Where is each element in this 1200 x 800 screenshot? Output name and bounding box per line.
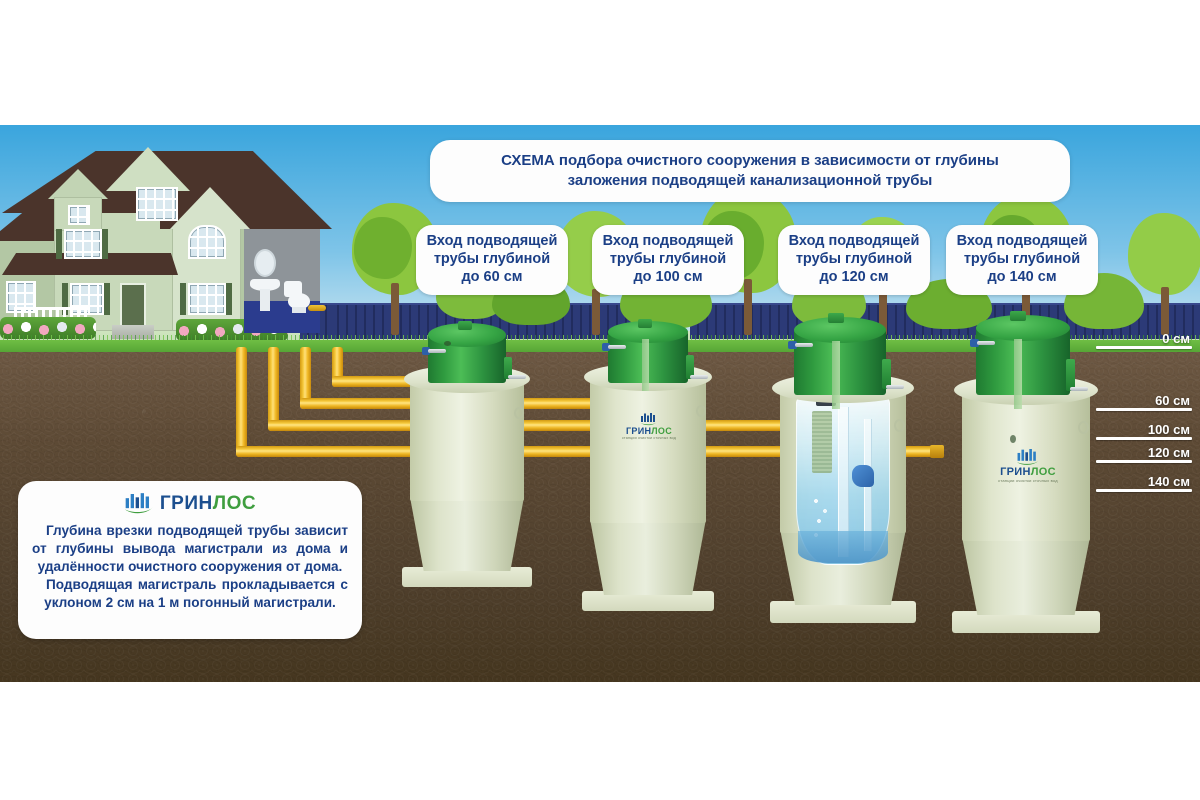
tank-3-fin — [832, 341, 840, 409]
pipe-horizontal-2 — [268, 420, 834, 431]
tank-4-brand-prefix: ГРИН — [1000, 466, 1031, 478]
shutter-lower-right-a — [180, 283, 186, 315]
tank-1-hatch — [458, 321, 472, 330]
depth-rule-120 — [1096, 460, 1192, 463]
callout-120-line1: Вход подводящей — [789, 233, 920, 251]
tank-4-brand-suffix: ЛОС — [1031, 466, 1056, 478]
callout-120-line2: трубы глубиной — [789, 251, 920, 269]
shutter-porch-b — [104, 283, 110, 315]
tank-4-body-lower — [962, 537, 1090, 615]
tank-2-brand-tagline: станции очистки сточных вод — [606, 437, 692, 441]
tank-2-brand-prefix: ГРИН — [626, 426, 651, 436]
pipe-vertical-2 — [268, 347, 279, 431]
tank-2-brand-logo: ГРИНЛОС станции очистки сточных вод — [606, 413, 692, 441]
depth-marker-120: 120 см — [1096, 445, 1192, 463]
tank-4-brand-tagline: станции очистки сточных вод — [982, 479, 1074, 483]
septic-tank-1 — [400, 321, 534, 587]
callout-100-line3: до 100 см — [603, 269, 734, 287]
tank-2-body-lower — [590, 519, 706, 595]
depth-marker-60: 60 см — [1096, 393, 1192, 411]
depth-rule-0 — [1096, 346, 1192, 349]
pipe-entry-cap-tank4 — [930, 445, 944, 458]
depth-rule-100 — [1096, 437, 1192, 440]
tank-1-valve-arm — [428, 349, 446, 353]
tank-2-fin — [642, 339, 649, 391]
greenlos-mark-icon — [1016, 449, 1040, 466]
info-paragraph-2: Подводящая магистраль прокладывается с у… — [32, 576, 348, 612]
tank-4-valve-arm — [977, 341, 995, 345]
tank-2-hatch — [638, 319, 652, 328]
title-line-2: заложения подводящей канализационной тру… — [568, 172, 933, 189]
callout-120-line3: до 120 см — [789, 269, 920, 287]
tank-2-handle — [696, 405, 706, 417]
depth-label-60: 60 см — [1096, 393, 1192, 408]
title-banner: СХЕМА подбора очистного сооружения в зав… — [430, 140, 1070, 202]
callout-60-line1: Вход подводящей — [427, 233, 558, 251]
toilet-base — [292, 307, 306, 313]
tank-1-body-lower — [410, 497, 524, 571]
tank-1-handle — [514, 407, 524, 419]
tank-4-hatch — [1010, 311, 1026, 321]
house-illustration — [0, 125, 340, 355]
sink-pedestal — [260, 289, 270, 311]
infographic-root: ГРИНЛОС станции очистки сточных вод — [0, 0, 1200, 800]
callout-60-line2: трубы глубиной — [427, 251, 558, 269]
title-line-1: СХЕМА подбора очистного сооружения в зав… — [501, 152, 999, 169]
callout-140-line2: трубы глубиной — [957, 251, 1088, 269]
depth-label-100: 100 см — [1096, 422, 1192, 437]
callout-140-line1: Вход подводящей — [957, 233, 1088, 251]
info-brand-suffix: ЛОС — [213, 493, 256, 514]
window-arched — [188, 225, 226, 259]
tank-3-outlet-arm — [886, 385, 904, 389]
callout-100cm: Вход подводящей трубы глубиной до 100 см — [592, 225, 744, 295]
house-gable-right — [170, 187, 250, 229]
tank-1-outlet-arm — [508, 375, 526, 379]
septic-tank-2: ГРИНЛОС станции очистки сточных вод — [580, 321, 716, 611]
depth-marker-0: 0 см — [1096, 331, 1192, 349]
tank-3-hatch — [828, 313, 844, 323]
depth-label-120: 120 см — [1096, 445, 1192, 460]
callout-100-line1: Вход подводящей — [603, 233, 734, 251]
depth-label-0: 0 см — [1096, 331, 1192, 346]
pipe-vertical-1 — [236, 347, 247, 457]
callout-140cm: Вход подводящей трубы глубиной до 140 см — [946, 225, 1098, 295]
tank-4-outlet-arm — [1070, 387, 1088, 391]
depth-rule-140 — [1096, 489, 1192, 492]
illustration-canvas: ГРИНЛОС станции очистки сточных вод — [0, 125, 1200, 682]
window-dormer — [68, 205, 90, 225]
shutter-lower-right-b — [226, 283, 232, 315]
tank-2-valve-arm — [608, 345, 626, 349]
tank-4-side-port — [1010, 435, 1016, 443]
tank-1-body — [410, 379, 524, 501]
shutter-upper-left-a — [56, 229, 62, 259]
septic-tank-3-cutaway — [768, 315, 918, 623]
tank-3-valve-arm — [795, 343, 813, 347]
tank-3-pump — [852, 465, 874, 487]
tank-2-body — [590, 377, 706, 523]
info-box: ГРИНЛОС Глубина врезки подводящей трубы … — [18, 481, 362, 639]
info-paragraph-1: Глубина врезки подводящей трубы зависит … — [32, 522, 348, 576]
house-dormer-roof — [48, 169, 108, 199]
callout-60-line3: до 60 см — [427, 269, 558, 287]
window-upper-left — [64, 229, 102, 259]
depth-marker-100: 100 см — [1096, 422, 1192, 440]
tree-6 — [1128, 213, 1200, 335]
tank-3-handle — [894, 419, 905, 432]
tank-2-brand-suffix: ЛОС — [651, 426, 672, 436]
info-brand-prefix: ГРИН — [160, 493, 213, 514]
greenlos-mark-icon — [124, 493, 154, 515]
septic-tank-4: ГРИНЛОС станции очистки сточных вод — [950, 315, 1102, 633]
depth-marker-140: 140 см — [1096, 474, 1192, 492]
callout-120cm: Вход подводящей трубы глубиной до 120 см — [778, 225, 930, 295]
tank-3-filter-media — [812, 411, 832, 473]
bathroom-mirror — [254, 249, 276, 277]
tank-4-brand-logo: ГРИНЛОС станции очистки сточных вод — [982, 449, 1074, 483]
callout-140-line3: до 140 см — [957, 269, 1088, 287]
tank-2-outlet-arm — [690, 375, 708, 379]
tank-4-handle — [1078, 421, 1089, 434]
house-gable-center — [106, 147, 190, 191]
tank-4-fin — [1014, 339, 1022, 409]
window-upper-center — [136, 187, 178, 221]
depth-label-140: 140 см — [1096, 474, 1192, 489]
shutter-upper-left-b — [102, 229, 108, 259]
callout-60cm: Вход подводящей трубы глубиной до 60 см — [416, 225, 568, 295]
info-box-text: Глубина врезки подводящей трубы зависит … — [32, 522, 348, 612]
window-lower-right — [188, 283, 226, 315]
info-box-logo: ГРИНЛОС — [32, 489, 348, 519]
tank-3-water-level — [798, 531, 888, 563]
greenlos-mark-icon — [640, 413, 658, 426]
callout-100-line2: трубы глубиной — [603, 251, 734, 269]
depth-rule-60 — [1096, 408, 1192, 411]
drain-stub-pipe — [308, 305, 326, 311]
tank-1-port — [444, 341, 451, 346]
